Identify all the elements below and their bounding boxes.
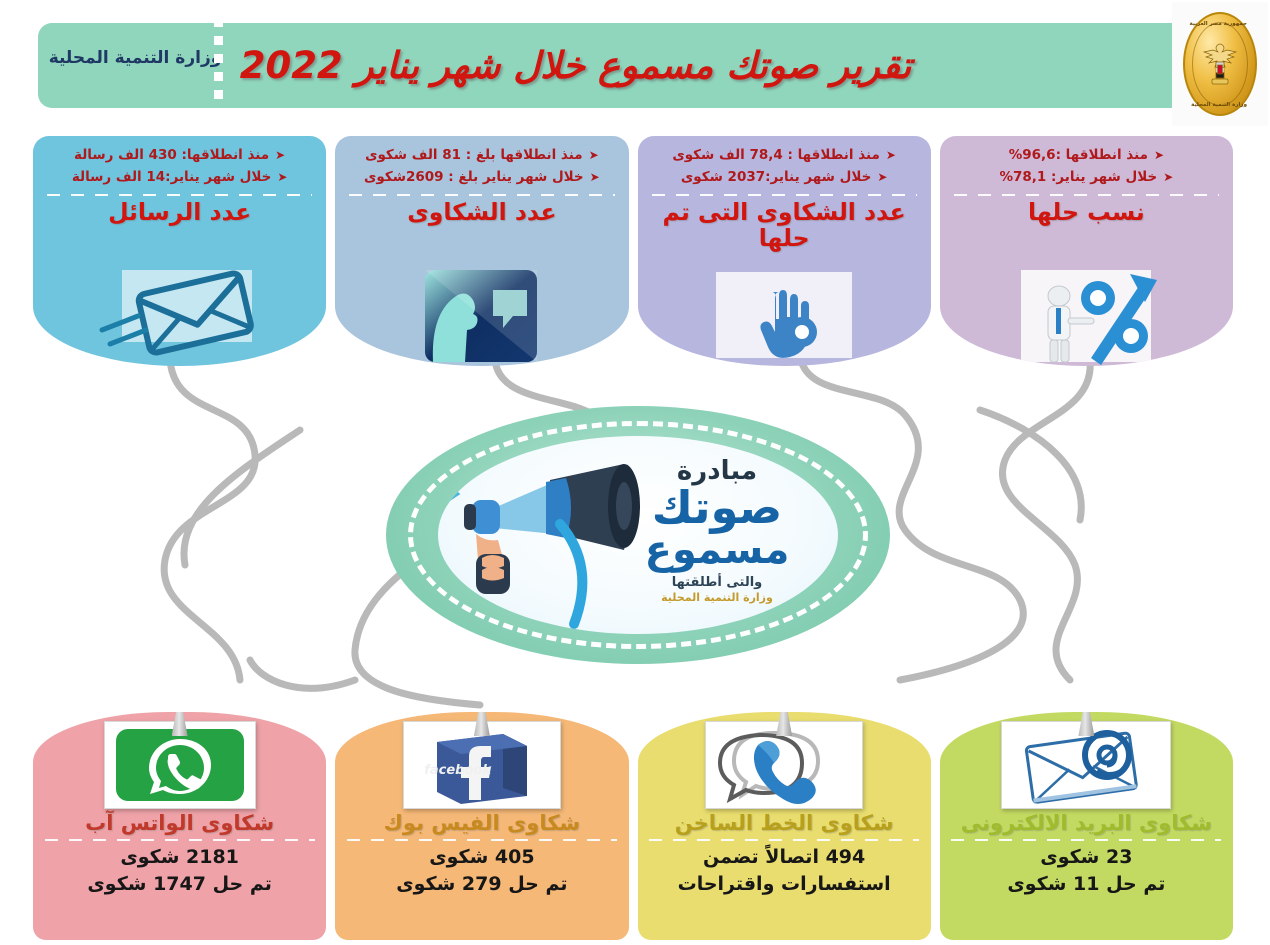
bullet-arrow-icon: ➤	[275, 146, 285, 165]
card-title: عدد الشكاوى التى تم حلها	[648, 199, 921, 252]
card-metric-line: استفسارات واقتراحات	[678, 871, 891, 898]
card-divider	[45, 839, 315, 841]
card-title: شكاوى الفيس بوك	[384, 812, 580, 835]
card-metric-line: تم حل 279 شكوى	[396, 871, 567, 898]
card-metrics: 2181 شكوى تم حل 1747 شكوى	[87, 844, 272, 898]
card-title: نسب حلها	[950, 199, 1223, 225]
bullet-text: خلال شهر يناير بلغ : 2609شكوى	[364, 167, 584, 189]
bullet-arrow-icon: ➤	[1154, 146, 1164, 165]
card-bullets: ➤منذ انطلاقها: 430 الف رسالة ➤خلال شهر ي…	[43, 145, 316, 189]
card-divider	[649, 839, 919, 841]
bullet-arrow-icon: ➤	[589, 146, 599, 165]
speaking-face-icon	[335, 262, 628, 366]
card-divider	[349, 194, 614, 196]
card-bullets: ➤منذ انطلاقها :96,6% ➤خلال شهر يناير: 78…	[950, 145, 1223, 189]
logo-line-2: صوتك	[622, 486, 812, 530]
egypt-eagle-emblem-icon: جمهورية مصر العربية وزارة التنمية المحلي…	[1183, 12, 1257, 116]
emblem-bottom-text: وزارة التنمية المحلية	[1193, 102, 1247, 108]
header-perforation	[214, 18, 223, 114]
bullet-text: منذ انطلاقها : 78,4 الف شكوى	[672, 145, 880, 167]
card-resolved-complaints[interactable]: ➤منذ انطلاقها : 78,4 الف شكوى ➤خلال شهر …	[638, 136, 931, 366]
card-title: شكاوى البريد الالكترونى	[961, 812, 1212, 835]
logo-inner-disc: مبادرة صوتك مسموع والتى أطلقتها وزارة ال…	[438, 436, 838, 634]
card-bullets: ➤منذ انطلاقها : 78,4 الف شكوى ➤خلال شهر …	[648, 145, 921, 189]
card-divider	[951, 839, 1221, 841]
initiative-logo: مبادرة صوتك مسموع والتى أطلقتها وزارة ال…	[386, 406, 890, 664]
bottom-channel-cards: شكاوى البريد الالكترونى 23 شكوى تم حل 11…	[33, 712, 1233, 940]
card-divider	[47, 194, 312, 196]
bullet-text: خلال شهر يناير: 78,1%	[999, 167, 1157, 189]
card-metric-line: تم حل 1747 شكوى	[87, 871, 272, 898]
card-resolution-rates[interactable]: ➤منذ انطلاقها :96,6% ➤خلال شهر يناير: 78…	[940, 136, 1233, 366]
eagle-of-saladin-icon	[1199, 38, 1241, 90]
percent-growth-icon	[940, 262, 1233, 366]
card-complaints[interactable]: ➤منذ انطلاقها بلغ : 81 الف شكوى ➤خلال شه…	[335, 136, 628, 366]
envelope-icon	[33, 262, 326, 366]
logo-line-3: مسموع	[622, 530, 812, 570]
card-hotline-complaints[interactable]: شكاوى الخط الساخن 494 اتصالاً تضمن استفس…	[638, 712, 931, 940]
card-metrics: 494 اتصالاً تضمن استفسارات واقتراحات	[678, 844, 891, 898]
card-metric-line: 405 شكوى	[396, 844, 567, 871]
card-title: عدد الشكاوى	[345, 199, 618, 225]
ok-hand-icon	[638, 262, 931, 366]
card-metric-line: 2181 شكوى	[87, 844, 272, 871]
top-metric-cards: ➤منذ انطلاقها :96,6% ➤خلال شهر يناير: 78…	[33, 136, 1233, 366]
card-facebook-complaints[interactable]: facebook شكاوى الفيس بوك 405 شكوى تم حل …	[335, 712, 628, 940]
card-metric-line: تم حل 11 شكوى	[1007, 871, 1165, 898]
bullet-arrow-icon: ➤	[886, 146, 896, 165]
bullet-text: خلال شهر يناير:14 الف رسالة	[72, 167, 272, 189]
bullet-arrow-icon: ➤	[1163, 168, 1173, 187]
bullet-arrow-icon: ➤	[277, 168, 287, 187]
card-email-complaints[interactable]: شكاوى البريد الالكترونى 23 شكوى تم حل 11…	[940, 712, 1233, 940]
logo-text-block: مبادرة صوتك مسموع والتى أطلقتها وزارة ال…	[622, 458, 812, 604]
card-metric-line: 494 اتصالاً تضمن	[678, 844, 891, 871]
card-metrics: 23 شكوى تم حل 11 شكوى	[1007, 844, 1165, 898]
bullet-arrow-icon: ➤	[877, 168, 887, 187]
card-divider	[954, 194, 1219, 196]
bullet-arrow-icon: ➤	[590, 168, 600, 187]
bullet-text: منذ انطلاقها :96,6%	[1009, 145, 1148, 167]
card-messages[interactable]: ➤منذ انطلاقها: 430 الف رسالة ➤خلال شهر ي…	[33, 136, 326, 366]
bullet-text: خلال شهر يناير:2037 شكوى	[681, 167, 871, 189]
svg-text:facebook: facebook	[424, 763, 492, 778]
logo-line-5: وزارة التنمية المحلية	[622, 591, 812, 604]
page-title: تقرير صوتك مسموع خلال شهر يناير 2022	[240, 44, 912, 87]
logo-line-4: والتى أطلقتها	[622, 575, 812, 590]
card-whatsapp-complaints[interactable]: شكاوى الواتس آب 2181 شكوى تم حل 1747 شكو…	[33, 712, 326, 940]
ministry-label: وزارة التنمية المحلية	[45, 48, 225, 68]
infographic-page: تقرير صوتك مسموع خلال شهر يناير 2022 وزا…	[0, 0, 1270, 945]
bullet-text: منذ انطلاقها: 430 الف رسالة	[74, 145, 269, 167]
bullet-text: منذ انطلاقها بلغ : 81 الف شكوى	[365, 145, 583, 167]
card-metrics: 405 شكوى تم حل 279 شكوى	[396, 844, 567, 898]
emblem-top-text: جمهورية مصر العربية	[1193, 21, 1247, 27]
card-title: شكاوى الواتس آب	[85, 812, 274, 835]
card-title: عدد الرسائل	[43, 199, 316, 225]
card-metric-line: 23 شكوى	[1007, 844, 1165, 871]
card-divider	[347, 839, 617, 841]
card-bullets: ➤منذ انطلاقها بلغ : 81 الف شكوى ➤خلال شه…	[345, 145, 618, 189]
card-divider	[652, 194, 917, 196]
emblem-container: جمهورية مصر العربية وزارة التنمية المحلي…	[1172, 2, 1268, 126]
card-title: شكاوى الخط الساخن	[675, 812, 894, 835]
